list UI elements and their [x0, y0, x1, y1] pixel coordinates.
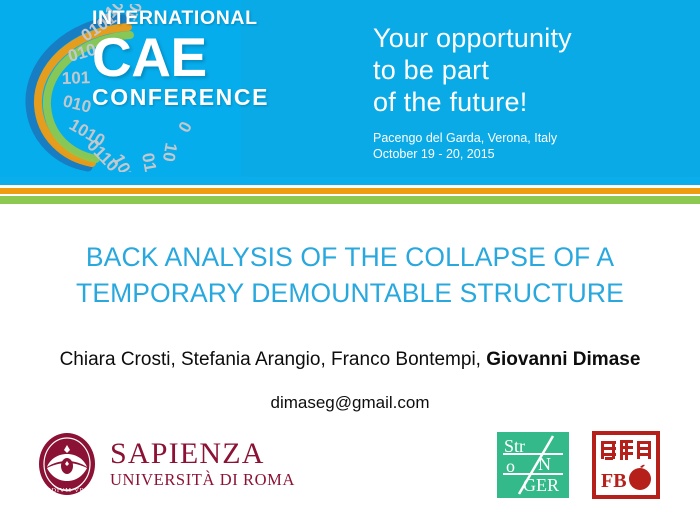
sapienza-crest-icon: STVDIVM VRBIS	[38, 432, 96, 496]
author-list: Chiara Crosti, Stefania Arangio, Franco …	[0, 348, 700, 372]
fbo-seal-text: FB	[601, 470, 627, 492]
tagline-line-3: of the future!	[373, 86, 572, 118]
author-name-highlighted: Giovanni Dimase	[486, 349, 640, 370]
sapienza-wordmark: SAPIENZA UNIVERSITÀ DI ROMA	[110, 438, 295, 489]
stronger-part-top: Str	[504, 436, 525, 456]
sapienza-university-logo: STVDIVM VRBIS SAPIENZA UNIVERSITÀ DI ROM…	[38, 432, 270, 498]
international-cae-conference-logo: 1001 010 0101 010 101 010 1010 0110 101 …	[22, 2, 254, 178]
svg-text:01: 01	[138, 151, 160, 172]
author-names-plain: Chiara Crosti, Stefania Arangio, Franco …	[60, 349, 487, 370]
sapienza-name: SAPIENZA	[110, 438, 295, 469]
sapienza-subtitle: UNIVERSITÀ DI ROMA	[110, 470, 295, 489]
svg-text:10: 10	[159, 141, 181, 163]
svg-text:101: 101	[61, 68, 90, 88]
tagline-line-1: Your opportunity	[373, 22, 572, 54]
stronger-part-mid-right: N	[538, 454, 551, 474]
venue-location: Pacengo del Garda, Verona, Italy	[373, 131, 557, 147]
logo-line-cae: CAE	[92, 30, 256, 84]
venue-dates: October 19 - 20, 2015	[373, 147, 557, 163]
header-venue-info: Pacengo del Garda, Verona, Italy October…	[373, 131, 557, 162]
page-title-line-2: TEMPORARY DEMOUNTABLE STRUCTURE	[0, 275, 700, 311]
divider-green-stripe	[0, 196, 700, 204]
stronger-part-bottom: GER	[523, 475, 559, 495]
svg-text:0: 0	[174, 118, 195, 135]
svg-text:010: 010	[61, 91, 93, 116]
logo-line-conference: CONFERENCE	[92, 85, 256, 109]
title-slide: 1001 010 0101 010 101 010 1010 0110 101 …	[0, 0, 700, 525]
stronger-logo: Str o N GER	[497, 432, 569, 498]
page-title: BACK ANALYSIS OF THE COLLAPSE OF A TEMPO…	[0, 239, 700, 311]
slide-header-banner: 1001 010 0101 010 101 010 1010 0110 101 …	[0, 0, 700, 181]
divider-blue-stripe	[0, 177, 700, 185]
tagline-line-2: to be part	[373, 54, 572, 86]
fbo-seal-logo: FB	[592, 431, 660, 499]
contact-email: dimaseg@gmail.com	[0, 392, 700, 414]
stronger-part-mid-left: o	[506, 456, 515, 476]
svg-text:STVDIVM VRBIS: STVDIVM VRBIS	[38, 487, 96, 494]
header-tagline: Your opportunity to be part of the futur…	[373, 22, 572, 118]
page-title-line-1: BACK ANALYSIS OF THE COLLAPSE OF A	[0, 239, 700, 275]
